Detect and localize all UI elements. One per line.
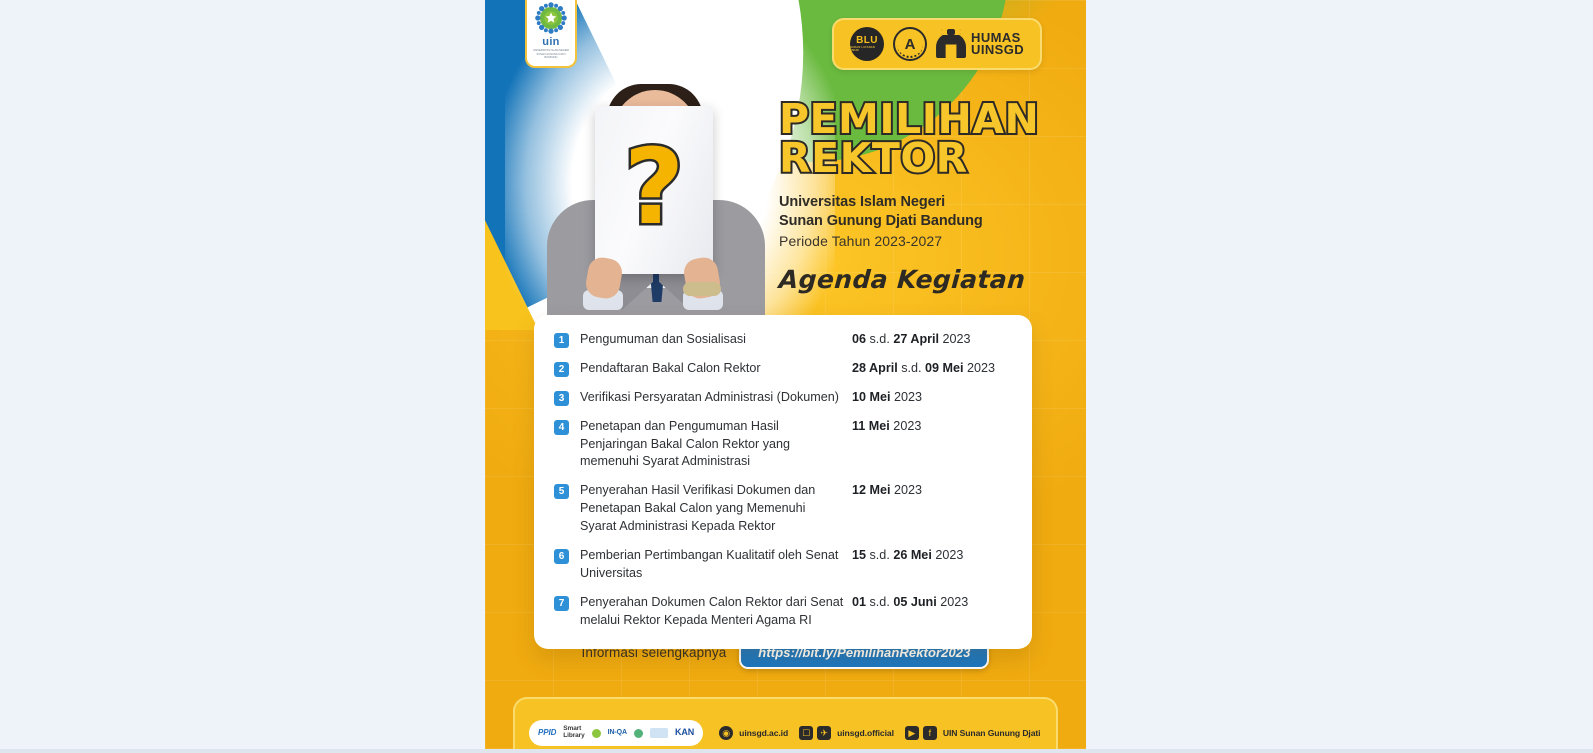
facebook-icon: f bbox=[923, 726, 937, 740]
uin-mandala-icon bbox=[534, 1, 568, 35]
page-gutter-left bbox=[0, 0, 485, 753]
screenshot-viewport: ? bbox=[0, 0, 1593, 753]
agenda-row-date: 10 Mei 2023 bbox=[852, 389, 1012, 407]
social-youtube-facebook[interactable]: ▶ f UIN Sunan Gunung Djati bbox=[905, 726, 1041, 740]
agenda-row: 7Penyerahan Dokumen Calon Rektor dari Se… bbox=[554, 594, 1012, 630]
agenda-row-number: 6 bbox=[554, 549, 569, 564]
accreditation-logos: PPID SmartLibrary IN-QA KAN bbox=[529, 720, 703, 746]
agenda-row-number: 1 bbox=[554, 333, 569, 348]
accreditation-a-badge-icon: A bbox=[893, 27, 927, 61]
agenda-row-number: 7 bbox=[554, 596, 569, 611]
agenda-row-number: 5 bbox=[554, 484, 569, 499]
website-handle: uinsgd.ac.id bbox=[739, 728, 788, 738]
photo-paper-sheet: ? bbox=[595, 106, 713, 274]
agenda-card: 1Pengumuman dan Sosialisasi06 s.d. 27 Ap… bbox=[534, 315, 1032, 649]
agenda-heading: Agenda Kegiatan bbox=[778, 265, 1070, 294]
greenmetric-logo-icon bbox=[592, 729, 601, 738]
uin-logo-card: uin UNIVERSITAS ISLAM NEGERISUNAN GUNUNG… bbox=[525, 0, 577, 68]
blu-badge-sub: BADAN LAYANAN UMUM bbox=[850, 47, 884, 52]
agenda-row-activity: Penyerahan Hasil Verifikasi Dokumen dan … bbox=[569, 482, 852, 536]
social-website[interactable]: ◉ uinsgd.ac.id bbox=[719, 726, 788, 740]
agenda-row: 1Pengumuman dan Sosialisasi06 s.d. 27 Ap… bbox=[554, 331, 1012, 349]
humas-uinsgd-logo: HUMAS UINSGD bbox=[936, 30, 1024, 58]
agenda-row-activity: Verifikasi Persyaratan Administrasi (Dok… bbox=[569, 389, 852, 407]
agenda-row: 6Pemberian Pertimbangan Kualitatif oleh … bbox=[554, 547, 1012, 583]
youtube-icon: ▶ bbox=[905, 726, 919, 740]
instagram-handle: uinsgd.official bbox=[837, 728, 894, 738]
poster-title: PEMILIHAN REKTOR bbox=[779, 100, 1069, 177]
page-gutter-right bbox=[1086, 0, 1593, 753]
agenda-row-activity: Pengumuman dan Sosialisasi bbox=[569, 331, 852, 349]
title-block: PEMILIHAN REKTOR Universitas Islam Neger… bbox=[779, 100, 1069, 294]
institution-line-2: Sunan Gunung Djati Bandung bbox=[779, 213, 983, 229]
facebook-handle: UIN Sunan Gunung Djati bbox=[943, 728, 1041, 738]
agenda-row: 2Pendaftaran Bakal Calon Rektor28 April … bbox=[554, 360, 1012, 378]
agenda-row-number: 2 bbox=[554, 362, 569, 377]
agenda-row-number: 4 bbox=[554, 420, 569, 435]
blu-badge-label: BLU bbox=[856, 36, 878, 46]
agenda-row-date: 28 April s.d. 09 Mei 2023 bbox=[852, 360, 1012, 378]
iso-certified-logo-icon bbox=[650, 728, 668, 738]
photo-wristwatch bbox=[683, 282, 721, 296]
agenda-list: 1Pengumuman dan Sosialisasi06 s.d. 27 Ap… bbox=[554, 331, 1012, 629]
agenda-row-activity: Pendaftaran Bakal Calon Rektor bbox=[569, 360, 852, 378]
candidate-photo: ? bbox=[525, 82, 785, 332]
poster-canvas: ? bbox=[485, 0, 1086, 753]
humas-logo-text: HUMAS UINSGD bbox=[971, 32, 1024, 57]
page-bottom-edge bbox=[0, 749, 1593, 753]
institution-line-1: Universitas Islam Negeri bbox=[779, 194, 945, 210]
inqa-logo-icon: IN-QA bbox=[608, 729, 627, 736]
question-mark-icon: ? bbox=[624, 135, 684, 239]
agenda-row-activity: Penyerahan Dokumen Calon Rektor dari Sen… bbox=[569, 594, 852, 630]
social-instagram-twitter[interactable]: ☐ ✈ uinsgd.official bbox=[799, 726, 894, 740]
blu-badge-icon: BLU BADAN LAYANAN UMUM bbox=[850, 27, 884, 61]
aun-qa-logo-icon bbox=[634, 729, 643, 738]
poster-title-line-2: REKTOR bbox=[779, 139, 1069, 178]
agenda-row-activity: Pemberian Pertimbangan Kualitatif oleh S… bbox=[569, 547, 852, 583]
agenda-row-activity: Penetapan dan Pengumuman Hasil Penjaring… bbox=[569, 418, 852, 472]
instagram-icon: ☐ bbox=[799, 726, 813, 740]
agenda-row-date: 15 s.d. 26 Mei 2023 bbox=[852, 547, 1012, 565]
twitter-icon: ✈ bbox=[817, 726, 831, 740]
uin-wordmark: uin bbox=[542, 37, 559, 48]
agenda-row-date: 12 Mei 2023 bbox=[852, 482, 1012, 500]
ppid-logo-icon: PPID bbox=[538, 729, 556, 737]
accreditation-a-label: A bbox=[905, 36, 916, 53]
footer-bar: PPID SmartLibrary IN-QA KAN ◉ uinsgd.ac.… bbox=[513, 697, 1058, 753]
agenda-row-date: 01 s.d. 05 Juni 2023 bbox=[852, 594, 1012, 612]
uin-logo-subtitle: UNIVERSITAS ISLAM NEGERISUNAN GUNUNG DJA… bbox=[530, 49, 572, 59]
period-label: Periode Tahun 2023-2027 bbox=[779, 233, 1069, 249]
globe-icon: ◉ bbox=[719, 726, 733, 740]
agenda-row-number: 3 bbox=[554, 391, 569, 406]
smart-library-logo-icon: SmartLibrary bbox=[563, 726, 584, 740]
agenda-row: 3Verifikasi Persyaratan Administrasi (Do… bbox=[554, 389, 1012, 407]
social-links: ◉ uinsgd.ac.id ☐ ✈ uinsgd.official ▶ f U… bbox=[719, 726, 1040, 740]
agenda-row: 5Penyerahan Hasil Verifikasi Dokumen dan… bbox=[554, 482, 1012, 536]
kan-logo-icon: KAN bbox=[675, 728, 694, 737]
agenda-row-date: 11 Mei 2023 bbox=[852, 418, 1012, 436]
institution-badges: BLU BADAN LAYANAN UMUM A HUMAS UINSGD bbox=[832, 18, 1042, 70]
humas-glyph-icon bbox=[936, 30, 966, 58]
agenda-row-date: 06 s.d. 27 April 2023 bbox=[852, 331, 1012, 349]
institution-name: Universitas Islam Negeri Sunan Gunung Dj… bbox=[779, 193, 1069, 231]
agenda-row: 4Penetapan dan Pengumuman Hasil Penjarin… bbox=[554, 418, 1012, 472]
humas-line-2: UINSGD bbox=[971, 42, 1024, 57]
